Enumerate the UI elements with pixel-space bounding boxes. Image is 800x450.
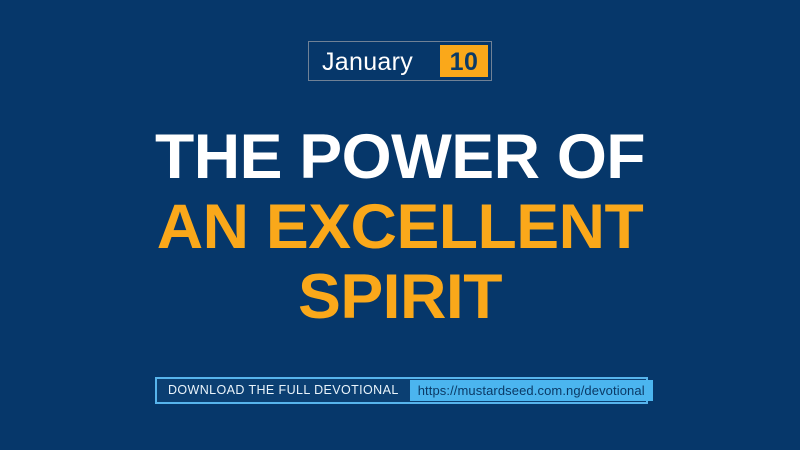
date-day-chip: 10 [440, 45, 488, 77]
date-month-label: January [312, 45, 413, 77]
devotional-poster: January 10 THE POWER OF AN EXCELLENT SPI… [0, 0, 800, 450]
download-cta-bar[interactable]: DOWNLOAD THE FULL DEVOTIONAL https://mus… [155, 377, 648, 404]
headline-line-1: THE POWER OF [0, 122, 800, 192]
headline-line-2: AN EXCELLENT [0, 192, 800, 262]
download-cta-label: DOWNLOAD THE FULL DEVOTIONAL [159, 381, 410, 400]
devotional-url-chip[interactable]: https://mustardseed.com.ng/devotional [410, 380, 653, 401]
date-badge: January 10 [308, 41, 492, 81]
headline-line-3: SPIRIT [0, 262, 800, 332]
headline-block: THE POWER OF AN EXCELLENT SPIRIT [0, 122, 800, 332]
